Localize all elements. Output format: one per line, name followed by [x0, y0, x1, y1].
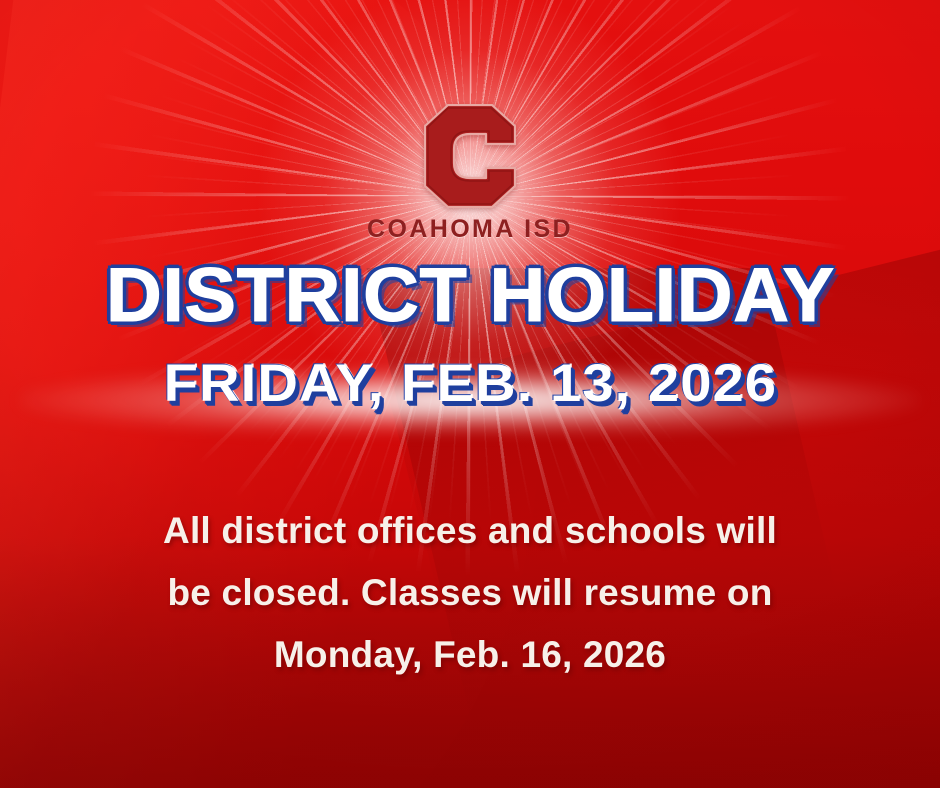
date-banner: FRIDAY, FEB. 13, 2026	[0, 344, 940, 422]
headline-row: DISTRICT HOLIDAY	[0, 258, 940, 334]
coahoma-isd-logo: COAHOMA ISD	[0, 104, 940, 244]
coahoma-block-c-icon	[424, 104, 516, 208]
coahoma-isd-wordmark: COAHOMA ISD	[367, 215, 573, 244]
body-line-1: All district offices and schools will	[70, 500, 870, 562]
date-banner-text: FRIDAY, FEB. 13, 2026	[163, 357, 776, 410]
headline-district-holiday: DISTRICT HOLIDAY	[106, 258, 835, 334]
district-holiday-flyer: COAHOMA ISD DISTRICT HOLIDAY FRIDAY, FEB…	[0, 0, 940, 788]
body-line-3: Monday, Feb. 16, 2026	[70, 624, 870, 686]
body-line-2: be closed. Classes will resume on	[70, 562, 870, 624]
body-copy-block: All district offices and schools will be…	[0, 500, 940, 686]
